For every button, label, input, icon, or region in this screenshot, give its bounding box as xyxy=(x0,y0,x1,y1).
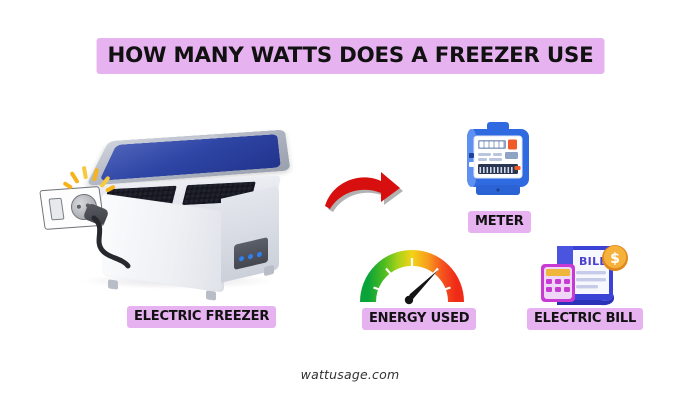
freezer-lid-inner-panel xyxy=(99,134,280,181)
caption-electric-freezer: ELECTRIC FREEZER xyxy=(127,306,276,328)
power-cable-icon xyxy=(88,214,136,270)
energy-gauge-icon xyxy=(358,250,466,306)
indicator-dot xyxy=(257,251,262,257)
spark-icon xyxy=(69,171,79,184)
electric-bill-icon: BILL $ xyxy=(527,240,639,308)
freezer-leg xyxy=(108,279,118,289)
spark-icon xyxy=(82,166,88,179)
caption-energy-used: ENERGY USED xyxy=(362,308,476,330)
svg-text:$: $ xyxy=(610,251,620,267)
electric-freezer-illustration xyxy=(28,118,296,298)
indicator-dot xyxy=(239,256,244,262)
indicator-dot xyxy=(248,254,253,260)
curved-right-arrow-icon xyxy=(322,163,404,215)
electricity-meter-icon xyxy=(459,122,537,204)
freezer-leg xyxy=(206,290,216,300)
poster-canvas: HOW MANY WATTS DOES A FREEZER USE xyxy=(0,0,700,420)
outlet-switch xyxy=(48,198,64,221)
freezer-indicator-lights xyxy=(239,251,262,261)
page-title-container: HOW MANY WATTS DOES A FREEZER USE xyxy=(0,38,700,74)
caption-electric-bill: ELECTRIC BILL xyxy=(527,308,643,330)
site-watermark: wattusage.com xyxy=(0,367,700,382)
caption-meter: METER xyxy=(468,211,531,233)
socket-hole xyxy=(77,204,82,209)
page-title: HOW MANY WATTS DOES A FREEZER USE xyxy=(96,38,604,74)
